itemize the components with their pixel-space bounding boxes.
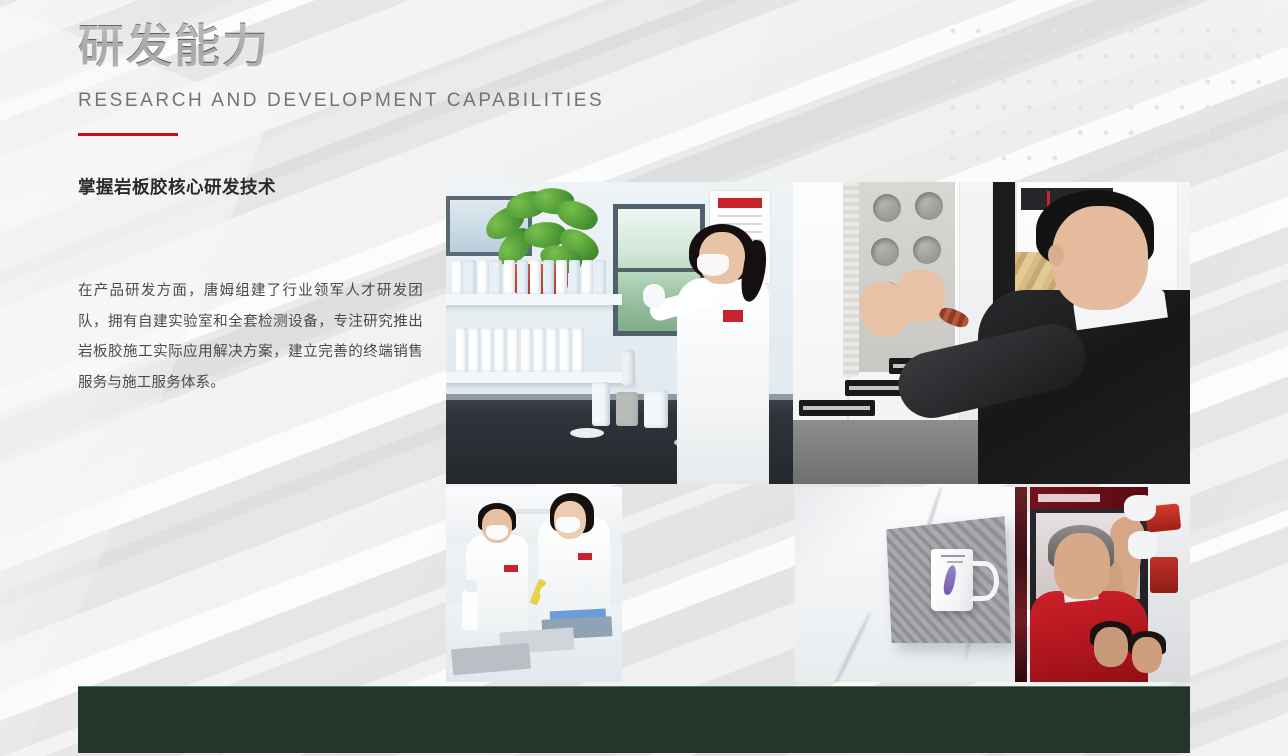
photo-mug-on-adhered-tile <box>795 487 1027 682</box>
lab-petri-dishes <box>570 428 604 438</box>
mug-handle <box>969 561 999 601</box>
page-title-cn: 研发能力 <box>78 22 778 72</box>
reagent-bottles-upper <box>452 260 606 294</box>
technician-b-face-mask <box>556 517 580 533</box>
bystander-1-head <box>1094 627 1128 667</box>
mug-script-line-1 <box>941 555 965 557</box>
lab-container <box>644 390 668 428</box>
page-header: 研发能力 RESEARCH AND DEVELOPMENT CAPABILITI… <box>78 22 778 112</box>
worker-head <box>1054 533 1110 599</box>
worker-glove-upper <box>1124 495 1156 521</box>
background-dot-grid <box>940 18 1270 178</box>
photo-worker-power-tool <box>1030 487 1190 682</box>
booth-floor <box>793 420 1003 484</box>
reagent-bottles-middle <box>456 328 584 372</box>
worker-glove-lower <box>1128 531 1158 559</box>
product-label-tag-1 <box>799 400 875 416</box>
lab-wash-bottle <box>592 382 610 426</box>
footer-bar <box>78 686 1190 753</box>
slide-page: 研发能力 RESEARCH AND DEVELOPMENT CAPABILITI… <box>0 0 1288 756</box>
lab-shelf-upper <box>446 294 622 305</box>
page-title-en: RESEARCH AND DEVELOPMENT CAPABILITIES <box>78 90 778 112</box>
section-body-text: 在产品研发方面，唐姆组建了行业领军人才研发团队，拥有自建实验室和全套检测设备，专… <box>78 276 423 399</box>
visitor-ear <box>1048 244 1064 266</box>
title-underline-rule <box>78 133 178 136</box>
section-lead-heading: 掌握岩板胶核心研发技术 <box>78 175 428 200</box>
photo-lab-technician <box>446 182 793 484</box>
technician-face-mask <box>697 254 729 276</box>
technician-a-logo-badge <box>504 565 518 572</box>
technician-glove <box>643 284 665 308</box>
mug-script-line-2 <box>947 561 963 563</box>
power-tool-battery <box>1150 557 1178 593</box>
pump-dispenser-bottle <box>462 590 478 630</box>
technician-logo-badge <box>723 310 743 322</box>
technician-a-glove <box>540 585 558 601</box>
photo-exhibition-slab-wall <box>793 182 1190 484</box>
lab-sample-cylinder <box>616 392 638 426</box>
ribbed-stone-strip <box>843 182 859 377</box>
visitor-head <box>1052 206 1148 310</box>
photo-technicians-tile-testing <box>446 487 622 682</box>
lab-jar-tall <box>622 350 635 386</box>
bystander-2-head <box>1132 637 1162 673</box>
technician-b-logo-badge <box>578 553 592 560</box>
technician-a-face-mask <box>486 525 508 540</box>
booth-red-edge <box>1015 487 1027 682</box>
technician-b-glove <box>576 583 598 601</box>
